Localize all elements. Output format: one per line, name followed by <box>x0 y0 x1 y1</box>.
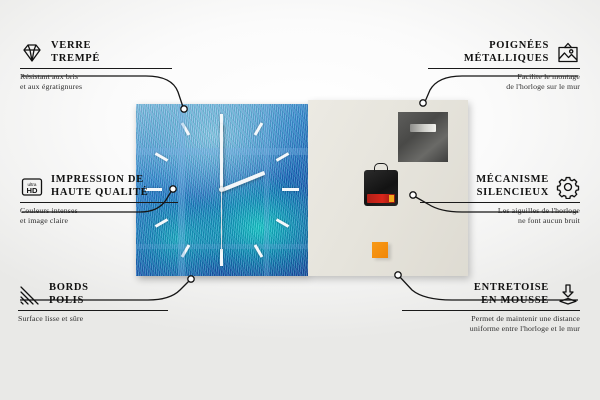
callout-desc: Surface lisse et sûre <box>18 311 188 324</box>
callout-title: BORDS <box>49 282 89 295</box>
callout-bords-polis: BORDS POLIS Surface lisse et sûre <box>18 282 188 324</box>
download-stack-icon <box>556 283 580 307</box>
clock-tick <box>220 249 223 266</box>
metal-hanger-plate <box>398 112 448 162</box>
callout-desc: Couleurs intenses <box>20 203 200 216</box>
diamond-icon <box>20 41 44 65</box>
clock-center-cap <box>219 187 224 192</box>
battery <box>367 194 395 203</box>
callout-desc: Facilite le montage <box>410 69 580 82</box>
callout-title: SILENCIEUX <box>476 187 549 200</box>
diagonal-lines-icon <box>18 283 42 307</box>
callout-title: VERRE <box>51 40 100 53</box>
callout-desc: uniforme entre l'horloge et le mur <box>390 324 580 334</box>
ultra-hd-icon: ultra HD <box>20 175 44 199</box>
callout-poignees-metalliques: POIGNÉES MÉTALLIQUES Facilite le montage… <box>410 40 580 92</box>
pattern-bar-vertical <box>264 104 269 276</box>
clock-tick <box>254 122 264 136</box>
clock-tick <box>276 218 290 228</box>
callout-title: POIGNÉES <box>464 40 549 53</box>
infographic-canvas: VERRE TREMPÉ Résistant aux bris et aux é… <box>0 0 600 400</box>
callout-desc: Résistant aux bris <box>20 69 190 82</box>
callout-title: POLIS <box>49 295 89 308</box>
callout-verre-trempe: VERRE TREMPÉ Résistant aux bris et aux é… <box>20 40 190 92</box>
callout-desc: et image claire <box>20 216 200 226</box>
callout-title: HAUTE QUALITÉ <box>51 187 149 200</box>
callout-desc: de l'horloge sur le mur <box>410 82 580 92</box>
callout-mecanisme-silencieux: MÉCANISME SILENCIEUX Les aiguilles de l'… <box>400 174 580 226</box>
hanger-loop <box>374 163 388 172</box>
callout-desc: et aux égratignures <box>20 82 190 92</box>
clock-tick <box>155 152 169 162</box>
clock-mechanism <box>364 170 398 206</box>
callout-title: TREMPÉ <box>51 53 100 66</box>
framed-picture-icon <box>556 41 580 65</box>
callout-title: EN MOUSSE <box>474 295 549 308</box>
callout-impression-haute-qualite: ultra HD IMPRESSION DE HAUTE QUALITÉ Cou… <box>20 174 200 226</box>
callout-title: MÉCANISME <box>476 174 549 187</box>
callout-desc: ne font aucun bruit <box>400 216 580 226</box>
clock-hand-minute <box>220 124 223 190</box>
clock-tick <box>181 122 191 136</box>
callout-entretoise-en-mousse: ENTRETOISE EN MOUSSE Permet de maintenir… <box>390 282 580 334</box>
foam-spacer <box>372 242 388 258</box>
callout-desc: Permet de maintenir une distance <box>390 311 580 324</box>
gear-icon <box>556 175 580 199</box>
clock-hand-second <box>221 188 222 250</box>
clock-hand-hour <box>221 171 265 192</box>
callout-title: IMPRESSION DE <box>51 174 149 187</box>
clock-tick <box>282 188 299 191</box>
callout-title: ENTRETOISE <box>474 282 549 295</box>
svg-text:HD: HD <box>27 186 38 195</box>
callout-title: MÉTALLIQUES <box>464 53 549 66</box>
clock-tick <box>181 244 191 258</box>
clock-tick <box>276 152 290 162</box>
callout-desc: Les aiguilles de l'horloge <box>400 203 580 216</box>
